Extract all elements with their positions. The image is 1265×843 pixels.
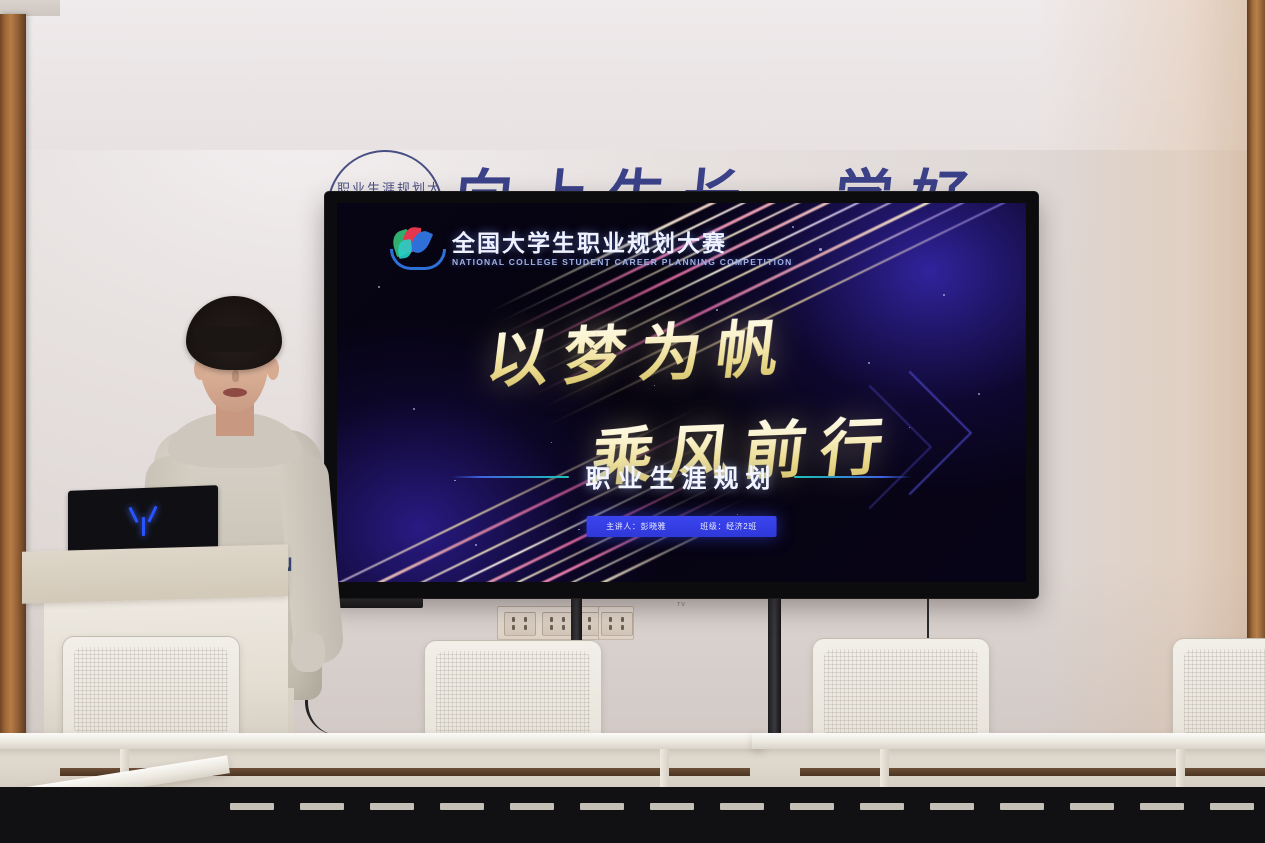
- classroom-table-right: [752, 733, 1265, 749]
- chair-backrest: [62, 636, 240, 746]
- career-competition-logo-icon: [389, 227, 441, 271]
- slide-header: 全国大学生职业规划大赛 NATIONAL COLLEGE STUDENT CAR…: [389, 227, 792, 271]
- classroom-photo-scene: 向上生长，学好每一门 职业生涯规划大赛: [0, 0, 1265, 843]
- wall-socket[interactable]: [504, 612, 536, 636]
- tv-brand-label: TV: [677, 602, 685, 608]
- legion-y-logo-icon: [132, 506, 154, 537]
- logo-swoosh: [390, 249, 446, 270]
- table-rail-right: [800, 768, 1265, 776]
- legion-laptop[interactable]: [68, 488, 218, 554]
- wall-socket-plate-right[interactable]: [598, 606, 634, 640]
- slide-subtitle: 职业生涯规划: [585, 459, 777, 495]
- slide-subtitle-row: 职业生涯规划: [337, 459, 1026, 495]
- presentation-slide: 全国大学生职业规划大赛 NATIONAL COLLEGE STUDENT CAR…: [337, 203, 1026, 582]
- presenter-nose: [232, 370, 239, 382]
- competition-title-cn: 全国大学生职业规划大赛: [452, 232, 792, 255]
- credit-presenter: 主讲人：彭晓雅: [606, 521, 666, 532]
- chair-backrest: [812, 638, 990, 748]
- chair-mesh: [1184, 649, 1265, 737]
- presenter-hair: [186, 296, 282, 370]
- chair-backrest: [1172, 638, 1265, 748]
- main-title-line1: 以梦为帆: [482, 289, 1026, 400]
- chair-mesh: [436, 651, 590, 739]
- presenter-mouth: [223, 388, 247, 397]
- slide-header-titles: 全国大学生职业规划大赛 NATIONAL COLLEGE STUDENT CAR…: [452, 232, 792, 267]
- chair-mesh: [74, 647, 228, 735]
- wall-display-tv[interactable]: 全国大学生职业规划大赛 NATIONAL COLLEGE STUDENT CAR…: [325, 192, 1038, 598]
- tv-brand-strip: TV: [325, 598, 1038, 611]
- credit-affiliation: 班级：经济2班: [700, 521, 757, 532]
- classroom-table-left: [0, 733, 764, 749]
- lectern-front-panel: [22, 544, 288, 603]
- dark-floor-panel: [0, 787, 1265, 843]
- wall-socket[interactable]: [601, 612, 633, 636]
- wall-socket[interactable]: [542, 612, 574, 636]
- slide-credits-bar: 主讲人：彭晓雅 班级：经济2班: [586, 516, 777, 537]
- chair-mesh: [824, 649, 978, 737]
- competition-title-en: NATIONAL COLLEGE STUDENT CAREER PLANNING…: [452, 257, 792, 267]
- tv-screen[interactable]: 全国大学生职业规划大赛 NATIONAL COLLEGE STUDENT CAR…: [337, 203, 1026, 582]
- subtitle-rule-right: [794, 476, 912, 478]
- subtitle-rule-left: [451, 476, 569, 478]
